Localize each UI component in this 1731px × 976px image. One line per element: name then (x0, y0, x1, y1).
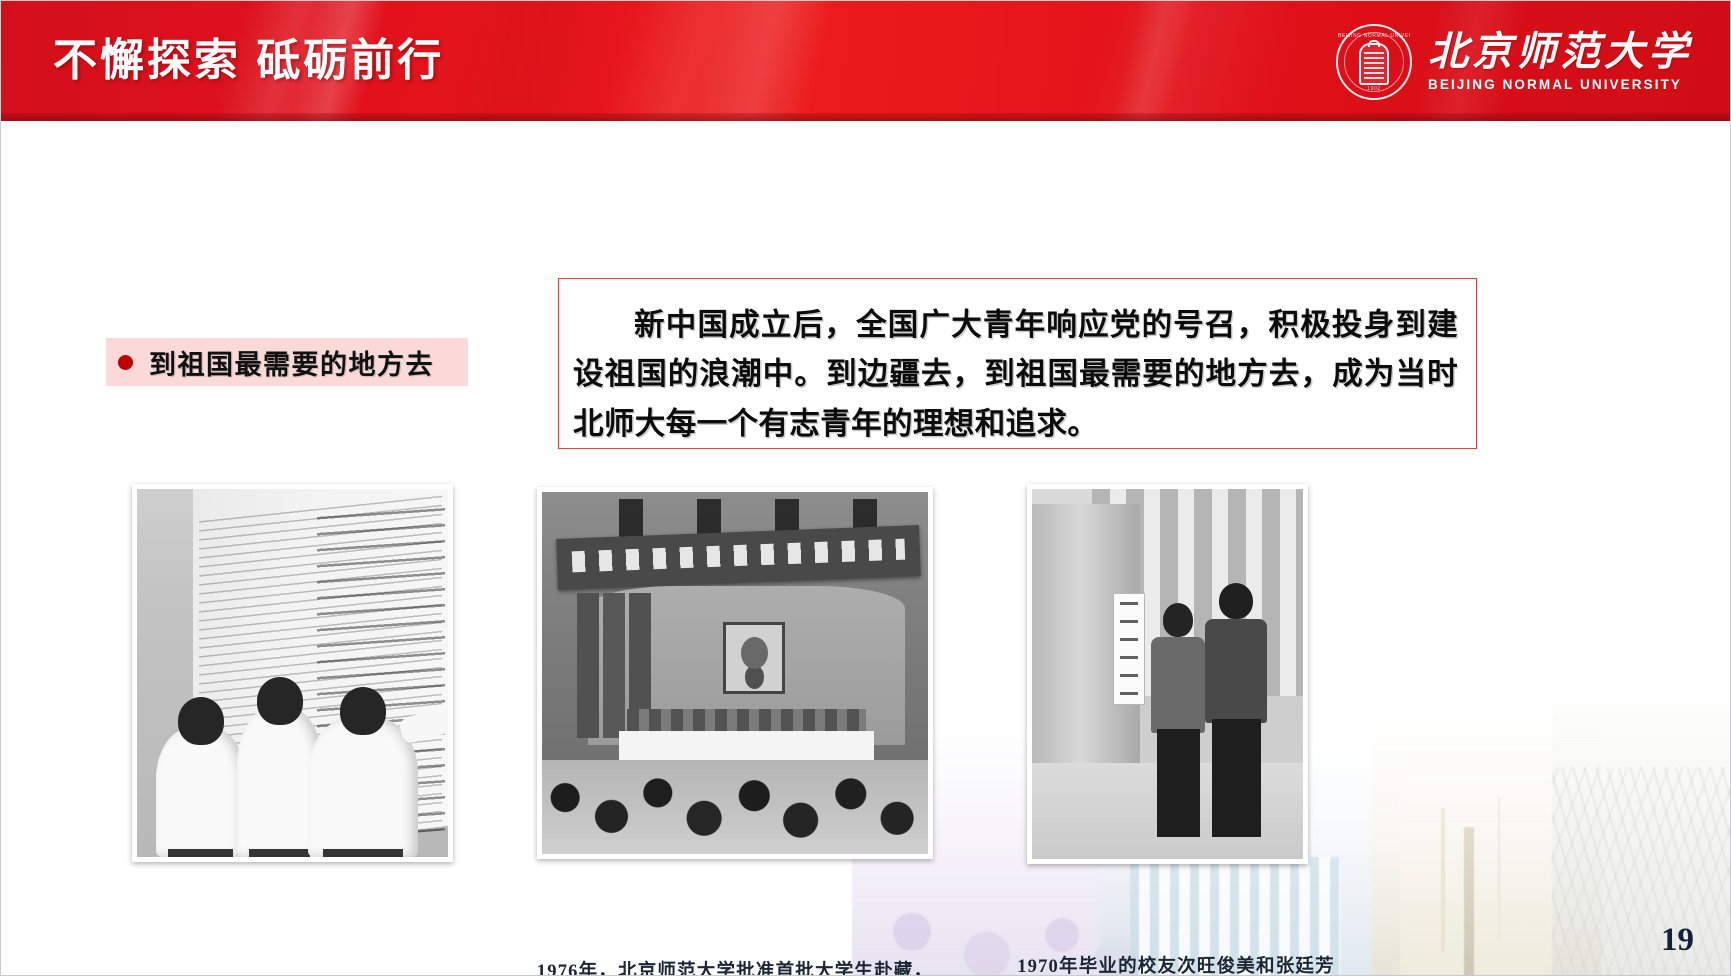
photo-2-audience (542, 760, 928, 854)
header-light-streak-3 (1096, 1, 1207, 121)
historical-photo-3 (1027, 484, 1308, 864)
photo-3-person-man (1205, 619, 1267, 837)
logo-name-cn: 北京师范大学 (1428, 32, 1692, 72)
bullet-heading: 到祖国最需要的地方去 (106, 338, 468, 386)
logo-wordmark: 北京师范大学 BEIJING NORMAL UNIVERSITY (1428, 32, 1692, 92)
historical-photo-1 (132, 484, 453, 862)
photo-2-side-banners (577, 593, 599, 738)
slide-header-banner: 不懈探索 砥砺前行 BEIJING NORMAL UNIVERSITY 1902… (1, 1, 1731, 121)
page-number: 19 (1661, 922, 1694, 959)
photo-3-caption: 1970年毕业的校友次旺俊美和张廷芳夫妇志愿服务西藏。 (1011, 954, 1341, 976)
photo-1-image (137, 489, 448, 857)
watermark-tile-tree (1372, 717, 1602, 976)
photo-2-image (542, 492, 928, 854)
bullet-dot-icon (118, 355, 133, 370)
photo-2-caption: 1976年，北京师范大学批准首批大学生赴藏，图为大会会场。 (527, 959, 943, 976)
seal-bottom-text: 1902 (1338, 86, 1410, 92)
logo-name-en: BEIJING NORMAL UNIVERSITY (1428, 77, 1682, 92)
header-light-streak-2 (676, 1, 847, 121)
university-logo: BEIJING NORMAL UNIVERSITY 1902 北京师范大学 BE… (1336, 21, 1692, 103)
seal-top-text: BEIJING NORMAL UNIVERSITY (1338, 33, 1410, 39)
seal-bell-glyph (1359, 43, 1389, 85)
photo-2-portrait (723, 622, 785, 694)
photo-3-person-woman (1151, 637, 1205, 837)
photo-1-student-a (156, 727, 246, 857)
slide-title: 不懈探索 砥砺前行 (53, 37, 444, 85)
slide: 不懈探索 砥砺前行 BEIJING NORMAL UNIVERSITY 1902… (0, 0, 1731, 976)
slide-body: 到祖国最需要的地方去 新中国成立后，全国广大青年响应党的号召，积极投身到建设祖国… (1, 121, 1731, 976)
photo-3-vertical-sign (1113, 593, 1145, 705)
paragraph-callout-box: 新中国成立后，全国广大青年响应党的号召，积极投身到建设祖国的浪潮中。到边疆去，到… (558, 278, 1477, 449)
university-seal-icon: BEIJING NORMAL UNIVERSITY 1902 (1336, 24, 1412, 100)
watermark-tile-branches (1552, 687, 1731, 976)
bullet-heading-label: 到祖国最需要的地方去 (149, 343, 434, 382)
photo-3-image (1032, 489, 1303, 859)
historical-photo-2 (537, 487, 933, 859)
paragraph-text: 新中国成立后，全国广大青年响应党的号召，积极投身到建设祖国的浪潮中。到边疆去，到… (573, 301, 1458, 449)
photo-1-student-c (308, 717, 418, 857)
